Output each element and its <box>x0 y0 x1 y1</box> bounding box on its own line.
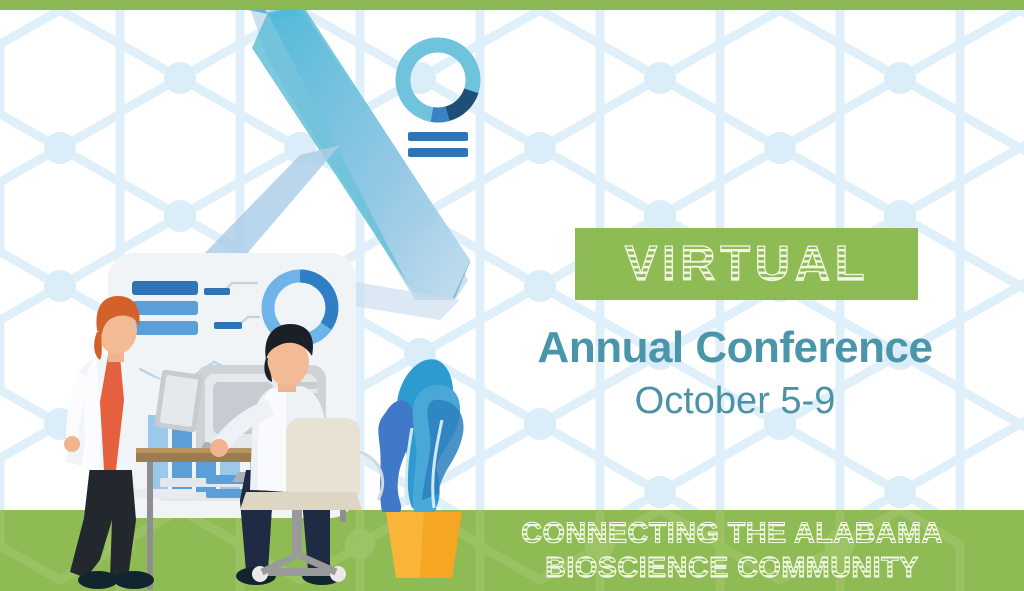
virtual-striped-text: VIRTUAL <box>592 237 902 291</box>
virtual-banner-text-wrap: VIRTUAL <box>575 228 918 300</box>
promo-poster: VIRTUAL Annual Conference October 5-9 CO… <box>0 0 1024 591</box>
tagline-block: CONNECTING THE ALABAMA BIOSCIENCE COMMUN… <box>440 508 1024 591</box>
tablet <box>154 369 204 432</box>
virtual-label: VIRTUAL <box>624 237 868 291</box>
dashboard-bar-2 <box>132 301 198 315</box>
event-dates: October 5-9 <box>470 381 1000 423</box>
page-title: Annual Conference <box>470 325 1000 371</box>
tagline-striped-text: CONNECTING THE ALABAMA BIOSCIENCE COMMUN… <box>472 514 992 586</box>
lab-illustration <box>0 0 560 591</box>
dashboard-bar-1 <box>132 281 198 295</box>
tagline-line-2: BIOSCIENCE COMMUNITY <box>545 551 919 583</box>
top-green-bar <box>0 0 1024 10</box>
tagline-line-1: CONNECTING THE ALABAMA <box>521 517 942 549</box>
donut-chart-top <box>403 45 473 157</box>
dashboard-bar-3 <box>132 321 198 335</box>
